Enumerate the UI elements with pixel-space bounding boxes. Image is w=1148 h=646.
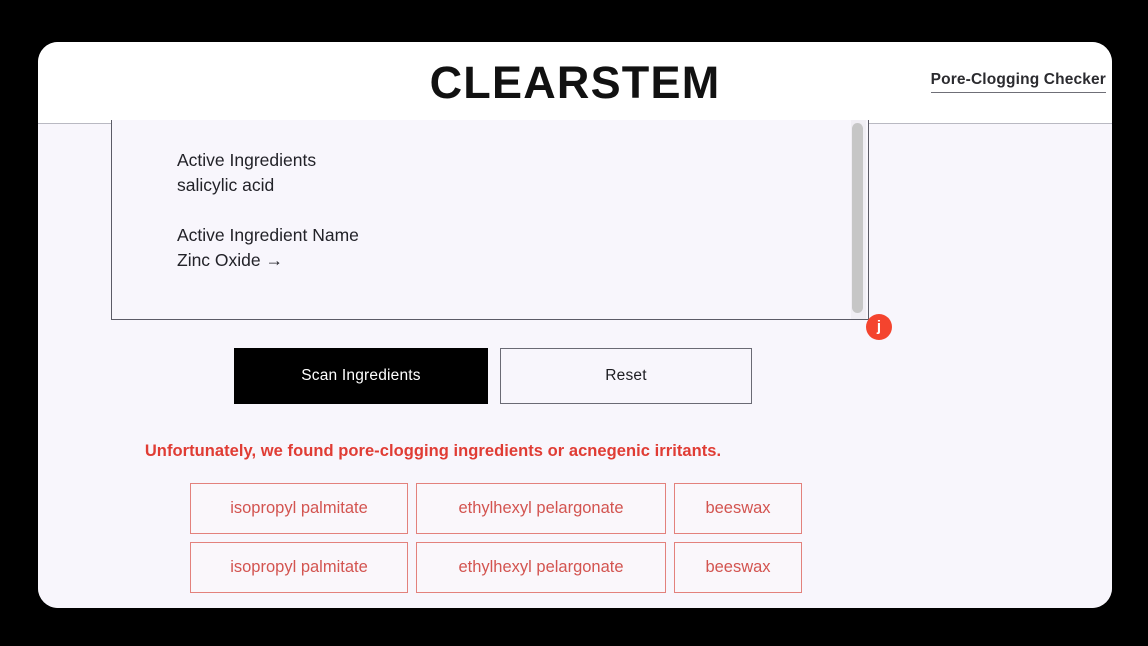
scan-ingredients-button[interactable]: Scan Ingredients — [234, 348, 488, 404]
action-buttons: Scan Ingredients Reset — [234, 348, 752, 404]
reset-button[interactable]: Reset — [500, 348, 752, 404]
flagged-ingredient-chip[interactable]: ethylhexyl pelargonate — [416, 542, 666, 593]
flagged-ingredient-chip[interactable]: beeswax — [674, 542, 802, 593]
screen-background: CLEARSTEM Pore-Clogging Checker Active I… — [0, 0, 1148, 646]
flagged-ingredient-chip[interactable]: beeswax — [674, 483, 802, 534]
flagged-ingredients-row: isopropyl palmitate ethylhexyl pelargona… — [190, 483, 802, 534]
flagged-ingredient-chip[interactable]: isopropyl palmitate — [190, 483, 408, 534]
flagged-ingredient-chip[interactable]: isopropyl palmitate — [190, 542, 408, 593]
ingredients-input[interactable]: Active Ingredients salicylic acid Active… — [111, 120, 869, 320]
flagged-ingredients-list: isopropyl palmitate ethylhexyl pelargona… — [190, 483, 802, 593]
flagged-ingredients-row: isopropyl palmitate ethylhexyl pelargona… — [190, 542, 802, 593]
cursor-badge: j — [866, 314, 892, 340]
scrollbar-thumb[interactable] — [852, 123, 863, 313]
app-body: Active Ingredients salicylic acid Active… — [38, 124, 1112, 608]
app-header: CLEARSTEM Pore-Clogging Checker — [38, 42, 1112, 124]
app-card: CLEARSTEM Pore-Clogging Checker Active I… — [38, 42, 1112, 608]
flagged-ingredient-chip[interactable]: ethylhexyl pelargonate — [416, 483, 666, 534]
ingredients-input-value: Active Ingredients salicylic acid Active… — [177, 148, 359, 273]
vertical-scrollbar[interactable] — [851, 120, 866, 319]
pore-clogging-checker-link[interactable]: Pore-Clogging Checker — [931, 71, 1106, 93]
results-warning-message: Unfortunately, we found pore-clogging in… — [38, 442, 828, 461]
